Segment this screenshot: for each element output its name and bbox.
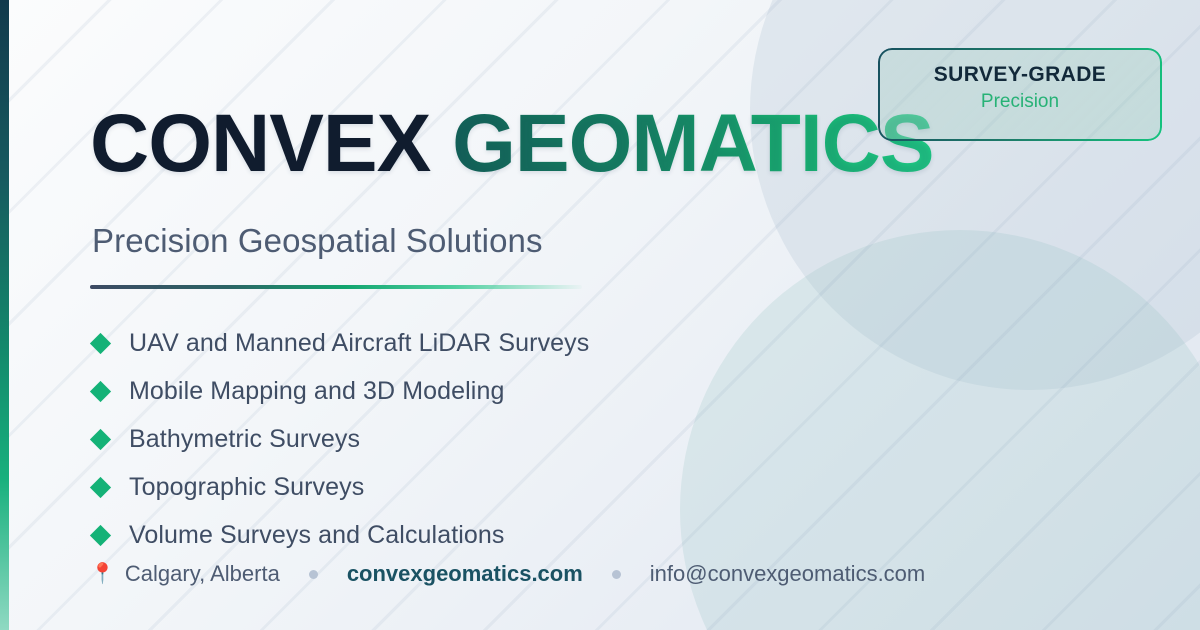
content-column: CONVEX GEOMATICS Precision Geospatial So… bbox=[90, 0, 950, 630]
brand-subtitle: Precision Geospatial Solutions bbox=[92, 222, 543, 260]
list-item: Topographic Surveys bbox=[90, 463, 589, 511]
location-label: Calgary, Alberta bbox=[125, 561, 280, 587]
service-label: Topographic Surveys bbox=[129, 473, 364, 502]
brand-title: CONVEX GEOMATICS bbox=[90, 103, 934, 185]
contact-footer: 📍 Calgary, Alberta convexgeomatics.com i… bbox=[90, 561, 925, 587]
promo-banner: SURVEY-GRADE Precision CONVEX GEOMATICS … bbox=[0, 0, 1200, 630]
diamond-bullet-icon bbox=[90, 524, 111, 545]
list-item: Volume Surveys and Calculations bbox=[90, 511, 589, 559]
email-link[interactable]: info@convexgeomatics.com bbox=[650, 561, 925, 587]
separator-dot bbox=[612, 570, 621, 579]
service-label: UAV and Manned Aircraft LiDAR Surveys bbox=[129, 329, 589, 358]
list-item: UAV and Manned Aircraft LiDAR Surveys bbox=[90, 319, 589, 367]
diamond-bullet-icon bbox=[90, 380, 111, 401]
survey-grade-badge: SURVEY-GRADE Precision bbox=[878, 48, 1162, 141]
service-label: Volume Surveys and Calculations bbox=[129, 521, 505, 550]
section-divider bbox=[90, 285, 582, 289]
services-list: UAV and Manned Aircraft LiDAR Surveys Mo… bbox=[90, 319, 589, 559]
website-link[interactable]: convexgeomatics.com bbox=[347, 561, 583, 587]
separator-dot bbox=[309, 570, 318, 579]
brand-title-primary: CONVEX bbox=[90, 98, 430, 189]
list-item: Bathymetric Surveys bbox=[90, 415, 589, 463]
service-label: Mobile Mapping and 3D Modeling bbox=[129, 377, 504, 406]
badge-title: SURVEY-GRADE bbox=[890, 62, 1150, 88]
badge-subtitle: Precision bbox=[890, 89, 1150, 115]
left-accent-bar bbox=[0, 0, 9, 630]
diamond-bullet-icon bbox=[90, 476, 111, 497]
diamond-bullet-icon bbox=[90, 332, 111, 353]
map-pin-icon: 📍 bbox=[90, 564, 115, 584]
service-label: Bathymetric Surveys bbox=[129, 425, 360, 454]
brand-title-secondary: GEOMATICS bbox=[452, 98, 933, 189]
diamond-bullet-icon bbox=[90, 428, 111, 449]
list-item: Mobile Mapping and 3D Modeling bbox=[90, 367, 589, 415]
